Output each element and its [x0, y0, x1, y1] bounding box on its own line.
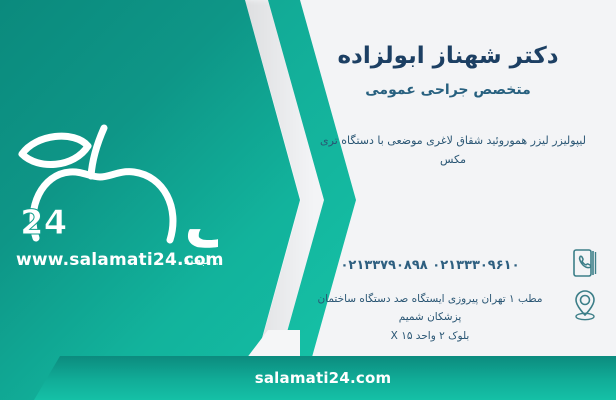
services-description: لیپولیزر لیزر هموروئید شقاق لاغری موضعی … — [308, 132, 598, 169]
page-title: دکتر شهناز ابولزاده — [298, 42, 598, 71]
phone-row: ۰۲۱۳۳۳۰۹۶۱۰ ۰۲۱۳۳۷۹۰۸۹۸ — [300, 246, 600, 280]
phone-book-icon — [570, 246, 600, 280]
card-content: دکتر شهناز ابولزاده متخصص جراحی عمومی لی… — [286, 0, 616, 400]
map-pin-icon — [570, 288, 600, 322]
footer-website-url[interactable]: salamati24.com — [0, 356, 616, 400]
svg-text:سلامتی: سلامتی — [184, 182, 218, 255]
address-text[interactable]: مطب ۱ تهران پیروزی ایستگاه صد دستگاه ساخ… — [300, 288, 560, 345]
address-row: مطب ۱ تهران پیروزی ایستگاه صد دستگاه ساخ… — [300, 288, 600, 345]
specialty-label: متخصص جراحی عمومی — [298, 82, 598, 98]
address-line-1: مطب ۱ تهران پیروزی ایستگاه صد دستگاه ساخ… — [317, 293, 542, 323]
business-card: سلامتی 24 راحتی یک لبخند www.salamati24.… — [0, 0, 616, 400]
phone-numbers[interactable]: ۰۲۱۳۳۳۰۹۶۱۰ ۰۲۱۳۳۷۹۰۸۹۸ — [300, 254, 560, 273]
address-line-2: بلوک ۲ واحد ۱۵ X — [391, 330, 470, 342]
logo-website-url[interactable]: www.salamati24.com — [16, 250, 216, 270]
svg-text:24: 24 — [20, 203, 67, 243]
